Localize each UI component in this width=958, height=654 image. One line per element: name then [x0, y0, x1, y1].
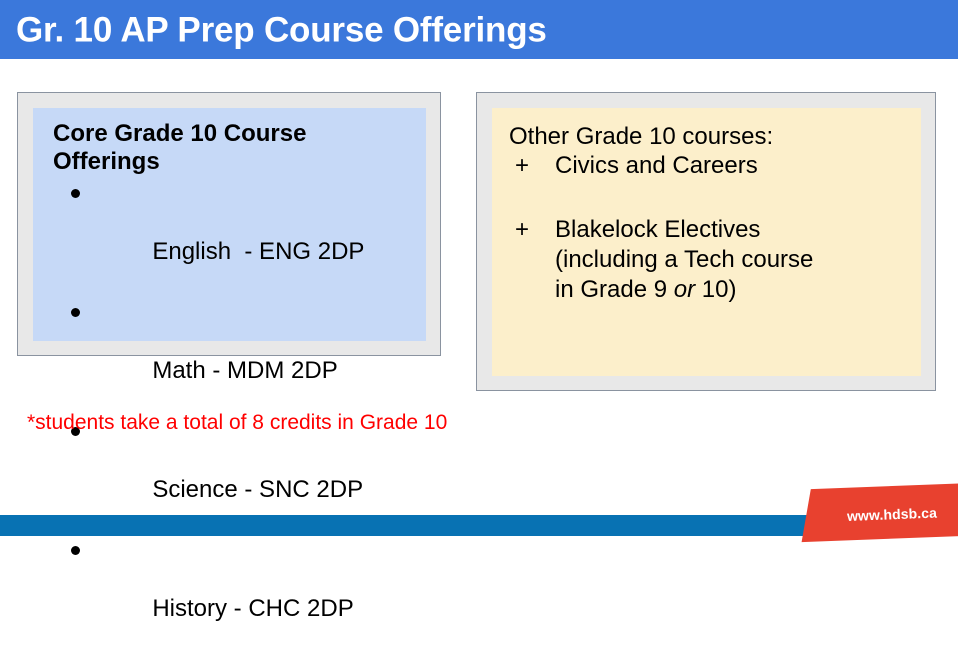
- list-item-label: Civics and Careers: [555, 152, 758, 179]
- page-title: Gr. 10 AP Prep Course Offerings: [16, 12, 547, 47]
- list-item-label: English - ENG 2DP: [152, 238, 364, 265]
- plus-marker-icon: +: [515, 151, 529, 181]
- other-courses-heading: Other Grade 10 courses:: [509, 122, 921, 151]
- other-courses-list: + Civics and Careers + Blakelock Electiv…: [509, 151, 921, 304]
- list-item: English - ENG 2DP: [71, 178, 426, 297]
- slide-title-bar: Gr. 10 AP Prep Course Offerings: [0, 0, 958, 59]
- bullet-dot-icon: [71, 546, 80, 555]
- list-item-label-line3-emphasis: or: [674, 276, 695, 303]
- list-item-label-line2: (including a Tech course: [555, 246, 813, 273]
- list-item-label-line3-post: 10): [695, 276, 736, 303]
- list-item: + Blakelock Electives (including a Tech …: [515, 215, 921, 304]
- bullet-dot-icon: [71, 308, 80, 317]
- list-item: + Civics and Careers: [515, 151, 921, 181]
- list-spacer: [515, 181, 921, 215]
- list-item-label: Math - MDM 2DP: [152, 357, 337, 384]
- other-courses-panel: Other Grade 10 courses: + Civics and Car…: [492, 108, 921, 376]
- website-url-label: www.hdsb.ca: [847, 506, 938, 523]
- list-item-label: Science - SNC 2DP: [152, 476, 363, 503]
- list-item: Math - MDM 2DP: [71, 297, 426, 416]
- core-courses-panel: Core Grade 10 Course Offerings English -…: [33, 108, 426, 341]
- credits-footnote: *students take a total of 8 credits in G…: [27, 410, 447, 435]
- list-item-label-line1: Blakelock Electives: [555, 216, 760, 243]
- list-item-label-line3-pre: in Grade 9: [555, 276, 674, 303]
- other-courses-box: Other Grade 10 courses: + Civics and Car…: [476, 92, 936, 391]
- list-item-label: History - CHC 2DP: [152, 595, 353, 622]
- core-courses-box: Core Grade 10 Course Offerings English -…: [17, 92, 441, 356]
- plus-marker-icon: +: [515, 215, 529, 245]
- core-courses-heading: Core Grade 10 Course Offerings: [53, 120, 353, 177]
- list-item: History - CHC 2DP: [71, 535, 426, 654]
- bullet-dot-icon: [71, 189, 80, 198]
